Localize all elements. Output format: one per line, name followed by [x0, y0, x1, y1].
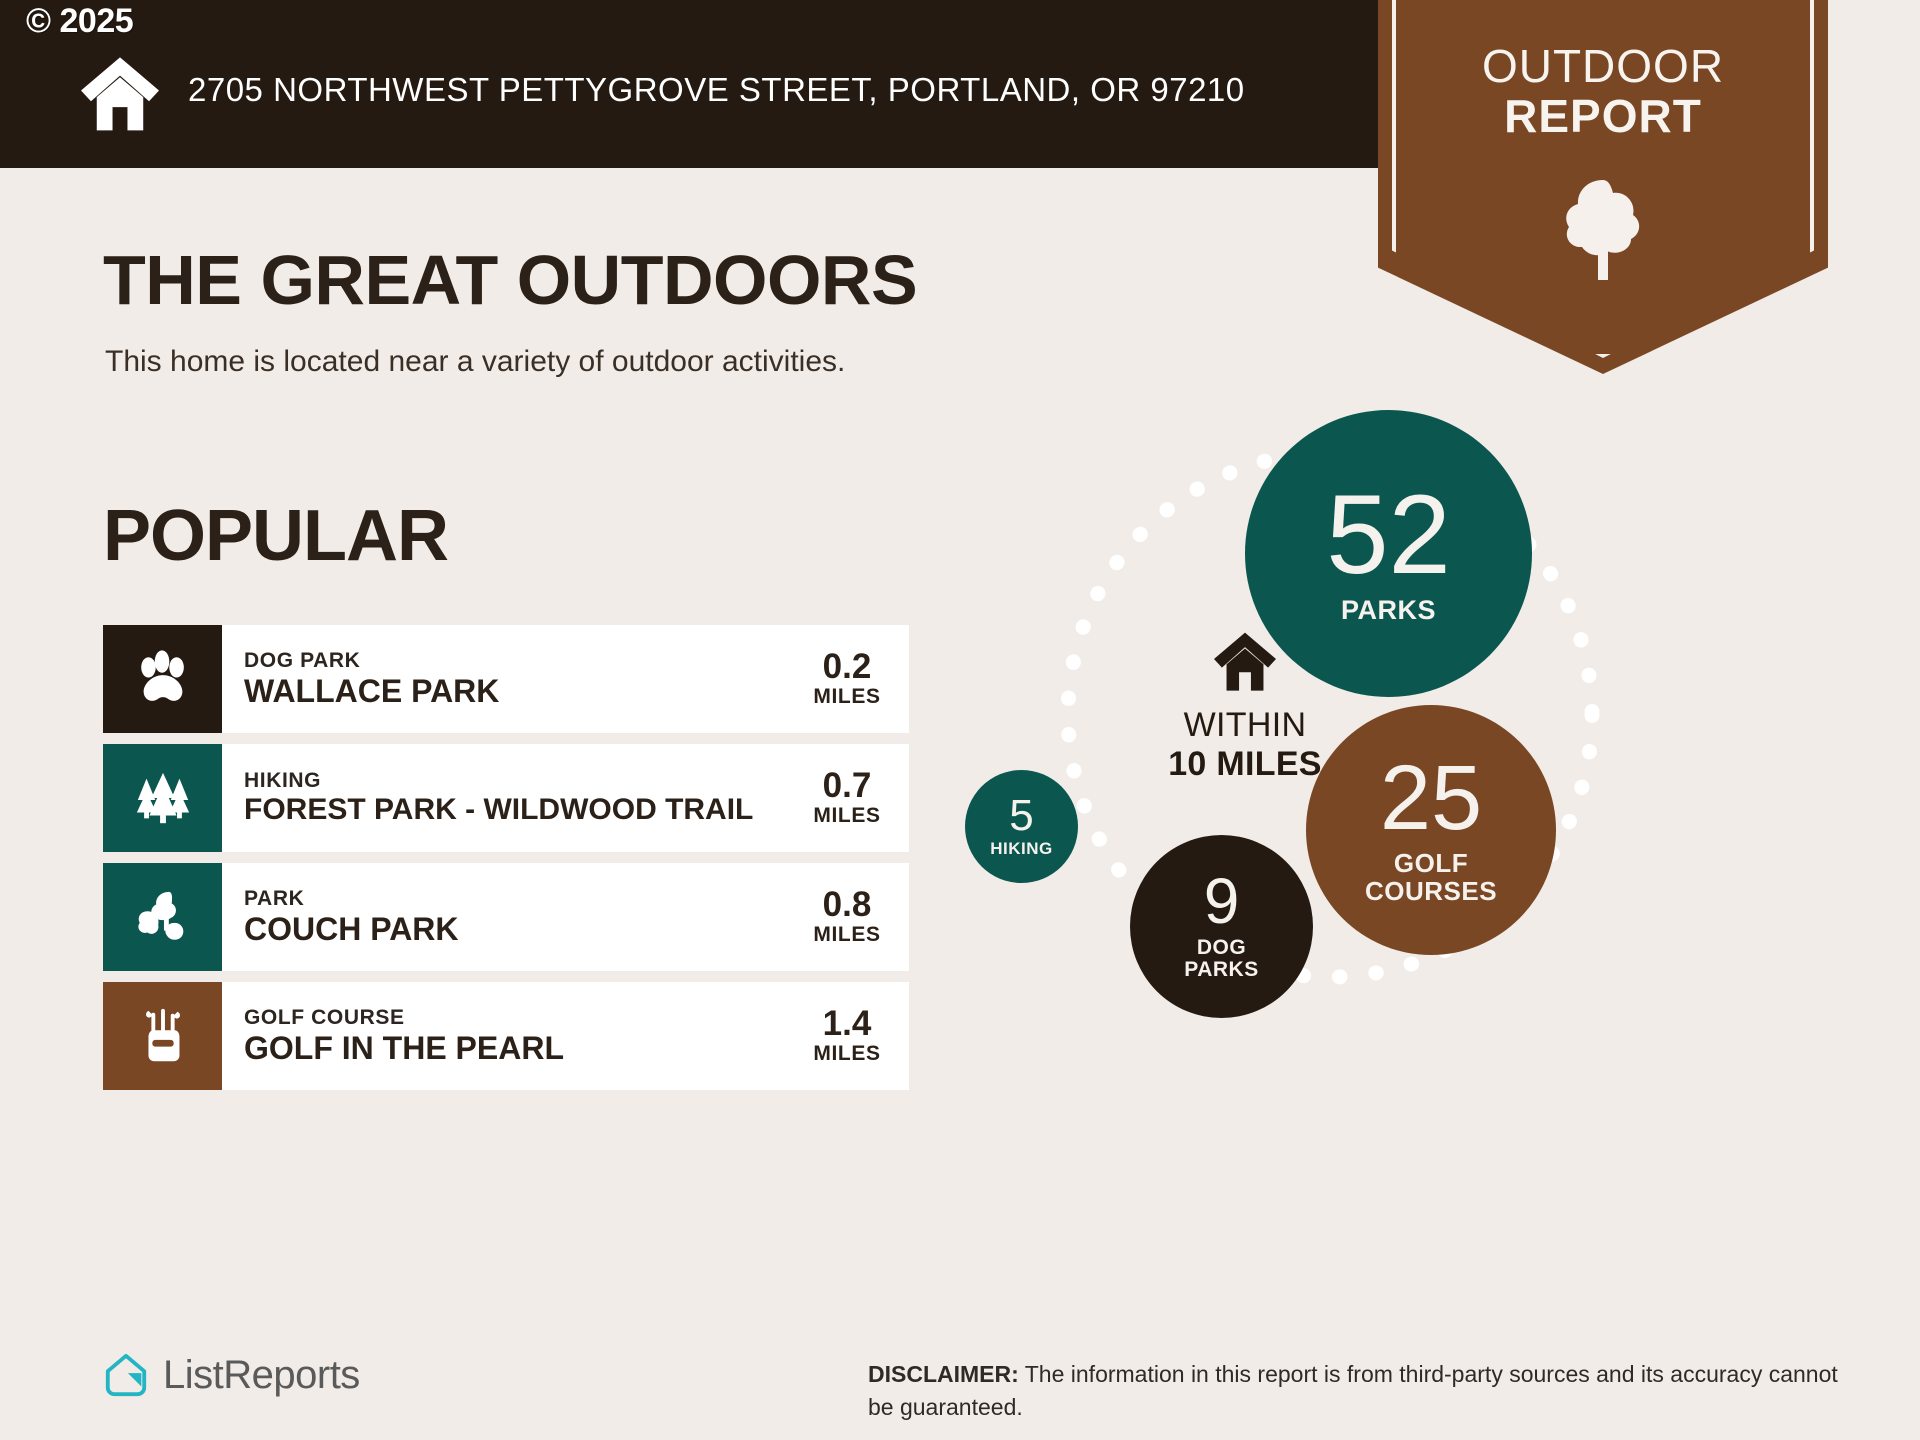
park-tree-icon	[132, 886, 194, 948]
poi-name: GOLF IN THE PEARL	[244, 1030, 797, 1067]
golf-bag-icon	[132, 1005, 194, 1067]
stat-label: GOLF COURSES	[1365, 849, 1497, 905]
poi-icon-tile	[103, 863, 222, 971]
pine-trees-icon	[132, 767, 194, 829]
home-icon	[78, 54, 162, 132]
amenities-circle-diagram: WITHIN 10 MILES 52 PARKS 25 GOLF COURSES…	[1010, 420, 1810, 1220]
stat-label-line1: DOG	[1197, 936, 1246, 959]
poi-distance-value: 0.2	[823, 649, 872, 686]
stat-circle-golf-courses[interactable]: 25 GOLF COURSES	[1306, 705, 1556, 955]
poi-distance-unit: MILES	[813, 923, 880, 947]
disclaimer: DISCLAIMER: The information in this repo…	[868, 1358, 1858, 1423]
center-label-line2: 10 MILES	[1168, 745, 1322, 784]
stat-label: HIKING	[990, 840, 1053, 858]
stat-value: 25	[1380, 755, 1482, 842]
tree-icon	[1557, 174, 1649, 282]
property-address: 2705 NORTHWEST PETTYGROVE STREET, PORTLA…	[188, 68, 1245, 113]
poi-icon-tile	[103, 982, 222, 1090]
page-title: THE GREAT OUTDOORS	[103, 240, 917, 320]
poi-distance: 1.4 MILES	[797, 982, 909, 1090]
center-label-line1: WITHIN	[1184, 706, 1307, 744]
poi-text: GOLF COURSE GOLF IN THE PEARL	[222, 982, 797, 1090]
center-home-label: WITHIN 10 MILES	[1168, 706, 1322, 785]
popular-heading: POPULAR	[103, 495, 448, 577]
outdoor-report-badge: OUTDOOR REPORT	[1378, 0, 1828, 374]
poi-text: PARK COUCH PARK	[222, 863, 797, 971]
header-bar: 2705 NORTHWEST PETTYGROVE STREET, PORTLA…	[0, 0, 1388, 168]
stat-value: 52	[1326, 482, 1451, 588]
stat-label-line2: PARKS	[1184, 958, 1258, 981]
poi-distance: 0.2 MILES	[797, 625, 909, 733]
stat-label-line1: GOLF	[1394, 848, 1468, 878]
poi-name: WALLACE PARK	[244, 673, 797, 710]
paw-icon	[132, 648, 194, 710]
poi-name: FOREST PARK - WILDWOOD TRAIL	[244, 793, 797, 828]
listreports-house-icon	[103, 1352, 149, 1398]
poi-distance-value: 1.4	[823, 1006, 872, 1043]
stat-label-line2: COURSES	[1365, 876, 1497, 906]
badge-title: OUTDOOR REPORT	[1378, 42, 1828, 141]
poi-distance: 0.7 MILES	[797, 744, 909, 852]
stat-value: 9	[1204, 871, 1240, 932]
poi-icon-tile	[103, 625, 222, 733]
badge-title-line1: OUTDOOR	[1378, 42, 1828, 92]
list-item[interactable]: HIKING FOREST PARK - WILDWOOD TRAIL 0.7 …	[103, 744, 909, 852]
stat-label: PARKS	[1341, 596, 1436, 625]
poi-name: COUCH PARK	[244, 911, 797, 948]
home-icon	[1211, 630, 1279, 692]
stat-circle-parks[interactable]: 52 PARKS	[1245, 410, 1532, 697]
list-item[interactable]: PARK COUCH PARK 0.8 MILES	[103, 863, 909, 971]
poi-icon-tile	[103, 744, 222, 852]
poi-distance: 0.8 MILES	[797, 863, 909, 971]
poi-distance-value: 0.8	[823, 887, 872, 924]
poi-distance-unit: MILES	[813, 804, 880, 828]
disclaimer-label: DISCLAIMER:	[868, 1361, 1019, 1387]
popular-list: DOG PARK WALLACE PARK 0.2 MILES HIKING F…	[103, 625, 909, 1101]
listreports-logo[interactable]: ListReports	[103, 1352, 360, 1398]
stat-value: 5	[1009, 795, 1033, 837]
poi-distance-unit: MILES	[813, 1042, 880, 1066]
poi-category: HIKING	[244, 769, 797, 793]
list-item[interactable]: GOLF COURSE GOLF IN THE PEARL 1.4 MILES	[103, 982, 909, 1090]
stat-circle-hiking[interactable]: 5 HIKING	[965, 770, 1078, 883]
poi-category: PARK	[244, 887, 797, 911]
copyright-watermark: © 2025	[26, 2, 133, 41]
badge-title-line2: REPORT	[1378, 92, 1828, 142]
poi-category: DOG PARK	[244, 649, 797, 673]
page-subtitle: This home is located near a variety of o…	[105, 345, 845, 379]
poi-distance-unit: MILES	[813, 685, 880, 709]
poi-text: HIKING FOREST PARK - WILDWOOD TRAIL	[222, 744, 797, 852]
listreports-logo-text: ListReports	[163, 1353, 360, 1398]
poi-text: DOG PARK WALLACE PARK	[222, 625, 797, 733]
poi-distance-value: 0.7	[823, 768, 872, 805]
poi-category: GOLF COURSE	[244, 1006, 797, 1030]
stat-circle-dog-parks[interactable]: 9 DOG PARKS	[1130, 835, 1313, 1018]
list-item[interactable]: DOG PARK WALLACE PARK 0.2 MILES	[103, 625, 909, 733]
stat-label: DOG PARKS	[1184, 937, 1258, 982]
